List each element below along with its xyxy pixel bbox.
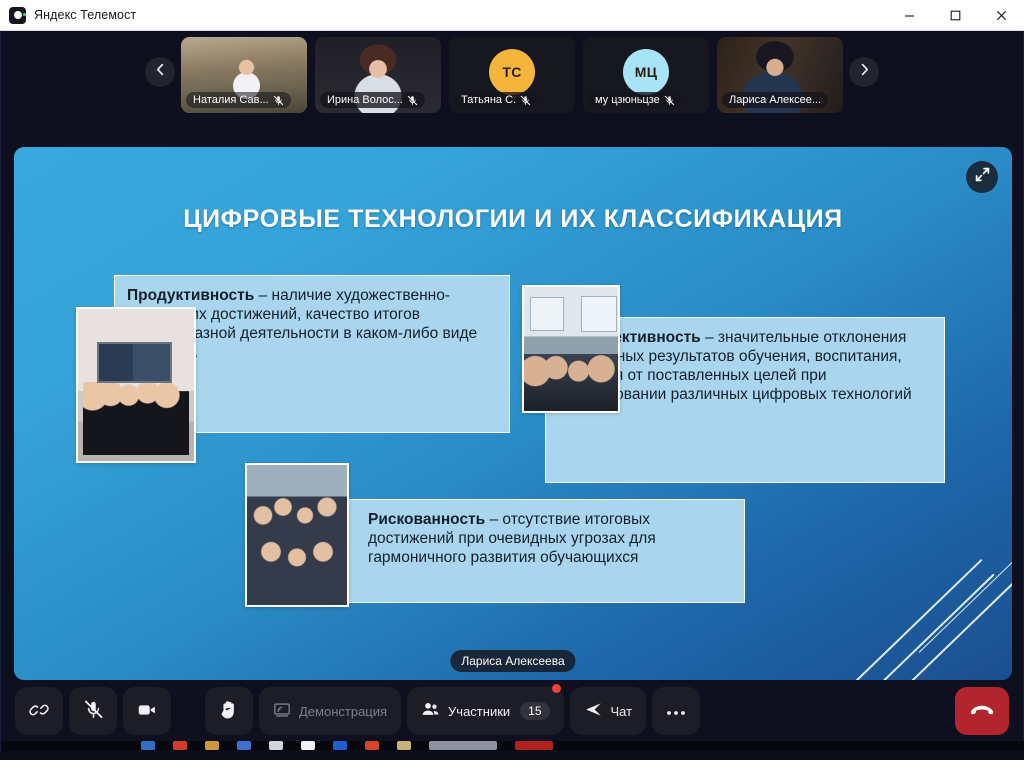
camera-toggle-button[interactable] xyxy=(123,687,171,735)
slide-photo xyxy=(76,307,196,463)
windows-taskbar[interactable] xyxy=(1,741,1024,751)
window-controls xyxy=(886,0,1024,31)
participant-tile[interactable]: ТС Татьяна С. xyxy=(449,37,575,113)
screen-share-label: Демонстрация xyxy=(299,704,387,719)
paper-plane-icon xyxy=(584,700,603,722)
participant-tile[interactable]: Лариса Алексее... xyxy=(717,37,843,113)
chat-label: Чат xyxy=(611,704,633,719)
camera-icon xyxy=(136,699,158,724)
slide-term: Рискованность xyxy=(368,511,485,528)
app-icon xyxy=(9,7,26,24)
expand-diagonal-icon xyxy=(975,167,990,187)
hangup-button[interactable] xyxy=(955,687,1009,735)
participant-name: Лариса Алексее... xyxy=(729,94,821,106)
participant-name-chip: Татьяна С. xyxy=(454,92,538,108)
copy-link-button[interactable] xyxy=(15,687,63,735)
taskbar-icon[interactable] xyxy=(141,741,155,750)
participant-tile[interactable]: Наталия Сав... xyxy=(181,37,307,113)
link-icon xyxy=(29,700,49,723)
slide-dash: – xyxy=(701,329,718,346)
microphone-off-icon xyxy=(520,95,531,106)
microphone-off-icon xyxy=(407,95,418,106)
participant-name: Ирина Волос... xyxy=(327,94,403,106)
participant-filmstrip: Наталия Сав... Ирина Волос... ТС Татьяна… xyxy=(1,31,1023,113)
notification-dot xyxy=(552,684,561,693)
taskbar-icon[interactable] xyxy=(205,741,219,750)
slide-photo xyxy=(522,285,620,413)
chat-button[interactable]: Чат xyxy=(570,687,647,735)
presenter-name-chip: Лариса Алексеева xyxy=(450,650,575,672)
taskbar-icon[interactable] xyxy=(333,741,347,750)
participant-tile[interactable]: МЦ му цзюньцзе xyxy=(583,37,709,113)
microphone-off-icon xyxy=(273,95,284,106)
people-icon xyxy=(421,700,440,722)
participant-tile[interactable]: Ирина Волос... xyxy=(315,37,441,113)
participant-name-chip: Лариса Алексее... xyxy=(722,92,828,108)
call-toolbar: Демонстрация Участники 15 xyxy=(1,681,1023,741)
screen-share-icon xyxy=(273,701,291,722)
taskbar-icon[interactable] xyxy=(237,741,251,750)
minimize-button[interactable] xyxy=(886,0,932,31)
filmstrip-prev-button[interactable] xyxy=(145,57,175,87)
avatar: ТС xyxy=(489,49,535,95)
participant-name-chip: Наталия Сав... xyxy=(186,92,291,108)
avatar-initials: ТС xyxy=(502,64,521,80)
slide-dash: – xyxy=(254,287,271,304)
window-titlebar: Яндекс Телемост xyxy=(0,0,1024,31)
slide-dash: – xyxy=(485,511,502,528)
taskbar-icon[interactable] xyxy=(365,741,379,750)
microphone-off-icon xyxy=(83,699,104,723)
phone-hangup-icon xyxy=(970,702,994,721)
close-button[interactable] xyxy=(978,0,1024,31)
more-options-button[interactable] xyxy=(652,687,700,735)
screen-share-button[interactable]: Демонстрация xyxy=(259,687,401,735)
participants-button[interactable]: Участники 15 xyxy=(407,687,563,735)
taskbar-icon[interactable] xyxy=(269,741,283,750)
ellipsis-icon xyxy=(666,704,686,719)
chevron-right-icon xyxy=(858,63,871,81)
chevron-left-icon xyxy=(154,63,167,81)
participant-name-chip: му цзюньцзе xyxy=(588,92,682,108)
participant-name: Наталия Сав... xyxy=(193,94,269,106)
app-body: Наталия Сав... Ирина Волос... ТС Татьяна… xyxy=(0,31,1024,751)
filmstrip-next-button[interactable] xyxy=(849,57,879,87)
slide-term: Продуктивность xyxy=(127,287,254,304)
maximize-button[interactable] xyxy=(932,0,978,31)
avatar-initials: МЦ xyxy=(635,64,658,80)
taskbar-icon[interactable] xyxy=(397,741,411,750)
toolbar-center-group: Демонстрация Участники 15 xyxy=(205,687,700,735)
microphone-toggle-button[interactable] xyxy=(69,687,117,735)
avatar: МЦ xyxy=(623,49,669,95)
microphone-off-icon xyxy=(664,95,675,106)
window-title: Яндекс Телемост xyxy=(34,8,136,22)
raise-hand-button[interactable] xyxy=(205,687,253,735)
toolbar-left-group xyxy=(15,687,171,735)
participant-name: му цзюньцзе xyxy=(595,94,660,106)
shared-slide-stage[interactable]: ЦИФРОВЫЕ ТЕХНОЛОГИИ И ИХ КЛАССИФИКАЦИЯ П… xyxy=(14,147,1012,680)
participant-name: Татьяна С. xyxy=(461,94,516,106)
taskbar-icon[interactable] xyxy=(301,741,315,750)
expand-button[interactable] xyxy=(966,161,998,193)
participants-label: Участники xyxy=(448,704,510,719)
participants-count: 15 xyxy=(520,702,549,720)
slide-photo xyxy=(245,463,349,607)
taskbar-icon[interactable] xyxy=(515,741,553,750)
taskbar-icon[interactable] xyxy=(173,741,187,750)
taskbar-icon[interactable] xyxy=(429,741,497,750)
participant-name-chip: Ирина Волос... xyxy=(320,92,425,108)
slide-title: ЦИФРОВЫЕ ТЕХНОЛОГИИ И ИХ КЛАССИФИКАЦИЯ xyxy=(14,205,1012,234)
raised-hand-icon xyxy=(219,699,239,723)
